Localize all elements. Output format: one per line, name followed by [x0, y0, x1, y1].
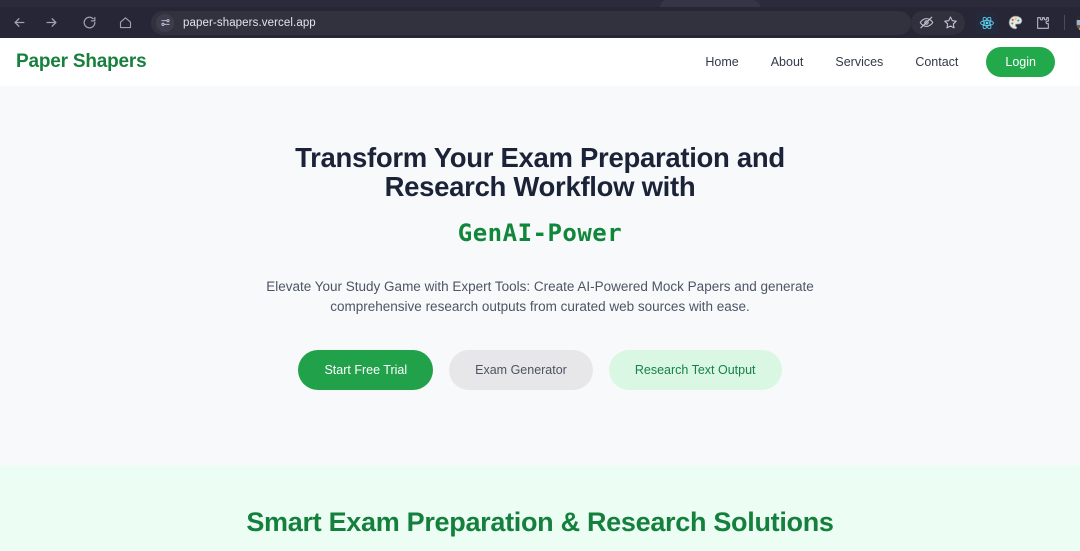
main-nav: Home About Services Contact Login — [689, 47, 1064, 77]
solutions-heading: Smart Exam Preparation & Research Soluti… — [246, 507, 833, 551]
browser-tab[interactable] — [660, 0, 760, 7]
eye-slash-icon[interactable] — [914, 11, 938, 35]
toolbar-divider — [1064, 15, 1065, 30]
site-settings-tune-icon[interactable] — [156, 14, 174, 32]
nav-link-about[interactable]: About — [755, 49, 820, 75]
solutions-section: Smart Exam Preparation & Research Soluti… — [0, 465, 1080, 551]
toolbar-right-icons — [911, 7, 1080, 38]
hero-section: Transform Your Exam Preparation and Rese… — [0, 86, 1080, 465]
login-button[interactable]: Login — [986, 47, 1055, 77]
hero-subtitle: Elevate Your Study Game with Expert Tool… — [245, 277, 835, 318]
url-bar[interactable]: paper-shapers.vercel.app — [151, 11, 911, 35]
exam-generator-button[interactable]: Exam Generator — [449, 350, 593, 390]
browser-chrome: paper-shapers.vercel.app — [0, 0, 1080, 38]
home-icon[interactable] — [111, 9, 139, 37]
view-controls-group — [911, 11, 965, 35]
react-devtools-extension-icon[interactable] — [976, 12, 998, 34]
forward-arrow-icon[interactable] — [37, 9, 65, 37]
nav-link-home[interactable]: Home — [689, 49, 754, 75]
hero-accent-text: GenAI-Power — [458, 219, 622, 247]
brand-logo[interactable]: Paper Shapers — [16, 51, 146, 73]
research-text-output-button[interactable]: Research Text Output — [609, 350, 782, 390]
tab-strip — [0, 0, 1080, 7]
browser-toolbar: paper-shapers.vercel.app — [0, 7, 1080, 38]
hero-headline: Transform Your Exam Preparation and Rese… — [240, 144, 840, 202]
bookmark-star-icon[interactable] — [938, 11, 962, 35]
nav-link-services[interactable]: Services — [819, 49, 899, 75]
hero-actions: Start Free Trial Exam Generator Research… — [298, 350, 781, 390]
back-arrow-icon[interactable] — [5, 9, 33, 37]
nav-link-contact[interactable]: Contact — [899, 49, 974, 75]
color-picker-extension-icon[interactable] — [1004, 12, 1026, 34]
extensions-puzzle-icon[interactable] — [1032, 12, 1054, 34]
url-text[interactable]: paper-shapers.vercel.app — [183, 17, 316, 29]
site-header: Paper Shapers Home About Services Contac… — [0, 38, 1080, 86]
start-free-trial-button[interactable]: Start Free Trial — [298, 350, 433, 390]
profile-avatar[interactable] — [1076, 13, 1080, 32]
reload-icon[interactable] — [75, 9, 103, 37]
